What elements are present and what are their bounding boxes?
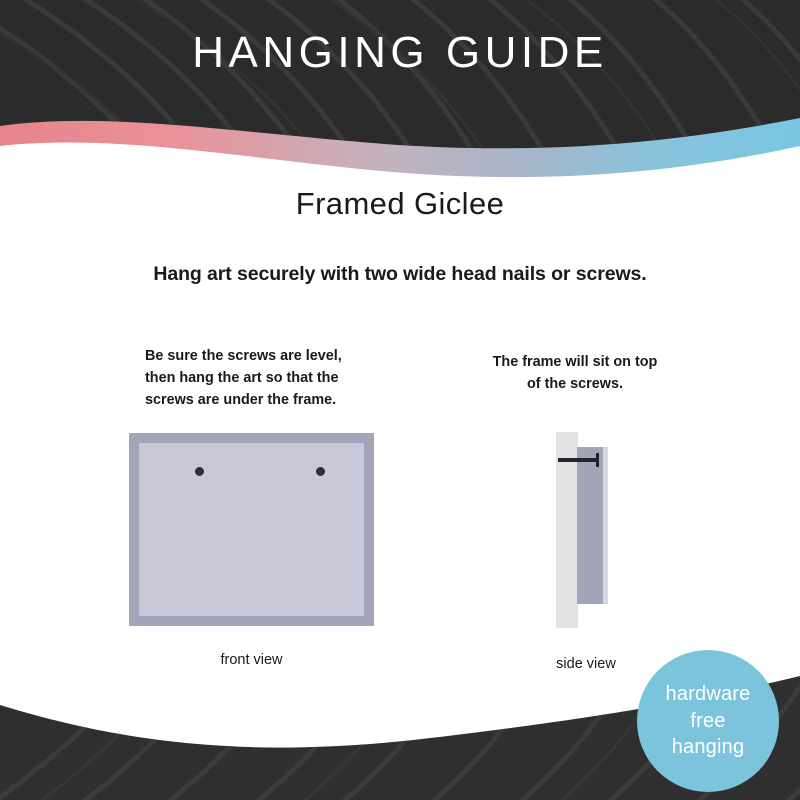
- badge-line: free: [690, 708, 725, 734]
- caption-line: of the screws.: [455, 374, 695, 396]
- side-view-diagram: [556, 432, 618, 628]
- front-view-diagram: [129, 433, 374, 626]
- hardware-free-hanging-badge: hardware free hanging: [637, 650, 779, 792]
- side-view-label: side view: [506, 656, 666, 672]
- lede-instruction: Hang art securely with two wide head nai…: [0, 263, 800, 286]
- screw-head-icon: [596, 453, 599, 467]
- screw-dot-right-icon: [316, 467, 325, 476]
- caption-line: screws are under the frame.: [145, 390, 385, 412]
- caption-line: Be sure the screws are level,: [145, 346, 385, 368]
- badge-line: hanging: [672, 734, 745, 760]
- caption-line: The frame will sit on top: [455, 352, 695, 374]
- screw-dot-left-icon: [195, 467, 204, 476]
- frame-edge: [603, 447, 608, 604]
- front-view-label: front view: [129, 652, 374, 668]
- side-view-caption: The frame will sit on top of the screws.: [455, 352, 695, 396]
- front-view-caption: Be sure the screws are level, then hang …: [145, 346, 385, 412]
- screw-shaft-icon: [558, 458, 598, 462]
- page-title: HANGING GUIDE: [0, 28, 800, 78]
- frame-profile: [577, 447, 604, 604]
- product-title: Framed Giclee: [0, 186, 800, 222]
- ribbon-gradient-band: [0, 105, 800, 178]
- caption-line: then hang the art so that the: [145, 368, 385, 390]
- badge-line: hardware: [666, 681, 751, 707]
